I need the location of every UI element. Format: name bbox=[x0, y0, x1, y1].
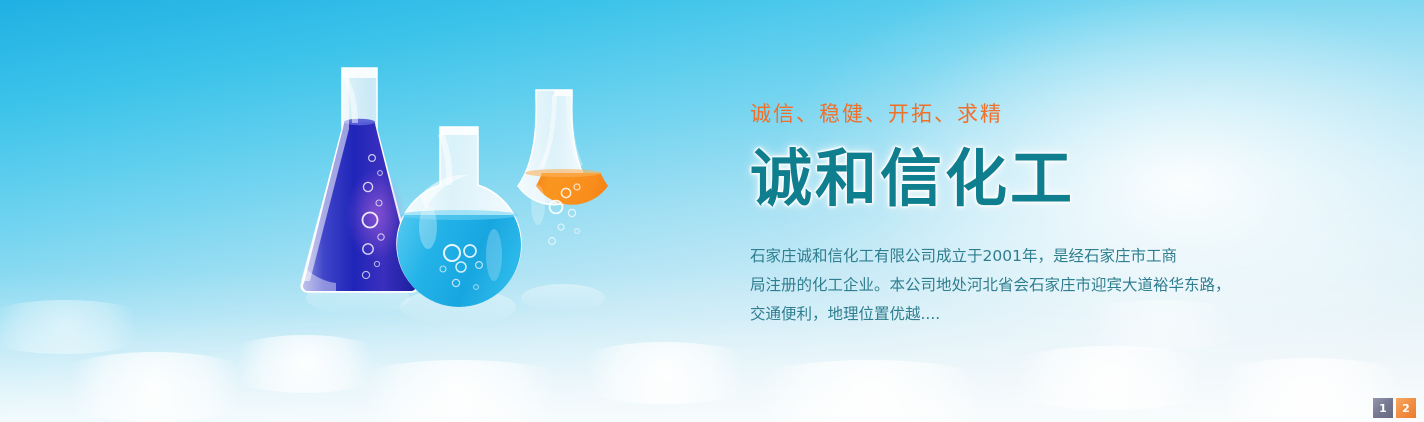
description-line-2: 局注册的化工企业。本公司地处河北省会石家庄市迎宾大道裕华东路， bbox=[750, 271, 1310, 300]
carousel-pagination: 1 2 bbox=[1373, 398, 1416, 418]
pear-flask-orange bbox=[502, 90, 622, 253]
flasks-illustration bbox=[280, 55, 630, 355]
pagination-item-1[interactable]: 1 bbox=[1373, 398, 1393, 418]
cloud-8 bbox=[0, 300, 160, 354]
cloud-1 bbox=[40, 352, 270, 422]
cloud-3 bbox=[330, 360, 590, 422]
cloud-6 bbox=[985, 346, 1235, 410]
round-bottom-flask-cyan bbox=[395, 127, 525, 310]
pagination-item-2[interactable]: 2 bbox=[1396, 398, 1416, 418]
cloud-5 bbox=[720, 360, 1020, 422]
banner-text-block: 诚信、稳健、开拓、求精 诚和信化工 石家庄诚和信化工有限公司成立于2001年，是… bbox=[750, 100, 1310, 329]
banner-description: 石家庄诚和信化工有限公司成立于2001年，是经石家庄市工商 局注册的化工企业。本… bbox=[750, 242, 1310, 329]
banner-headline: 诚和信化工 bbox=[750, 142, 1310, 216]
description-line-1: 石家庄诚和信化工有限公司成立于2001年，是经石家庄市工商 bbox=[750, 242, 1310, 271]
hero-banner: 诚信、稳健、开拓、求精 诚和信化工 石家庄诚和信化工有限公司成立于2001年，是… bbox=[0, 0, 1424, 422]
banner-tagline: 诚信、稳健、开拓、求精 bbox=[750, 100, 1310, 128]
description-line-3: 交通便利，地理位置优越.... bbox=[750, 300, 1310, 329]
